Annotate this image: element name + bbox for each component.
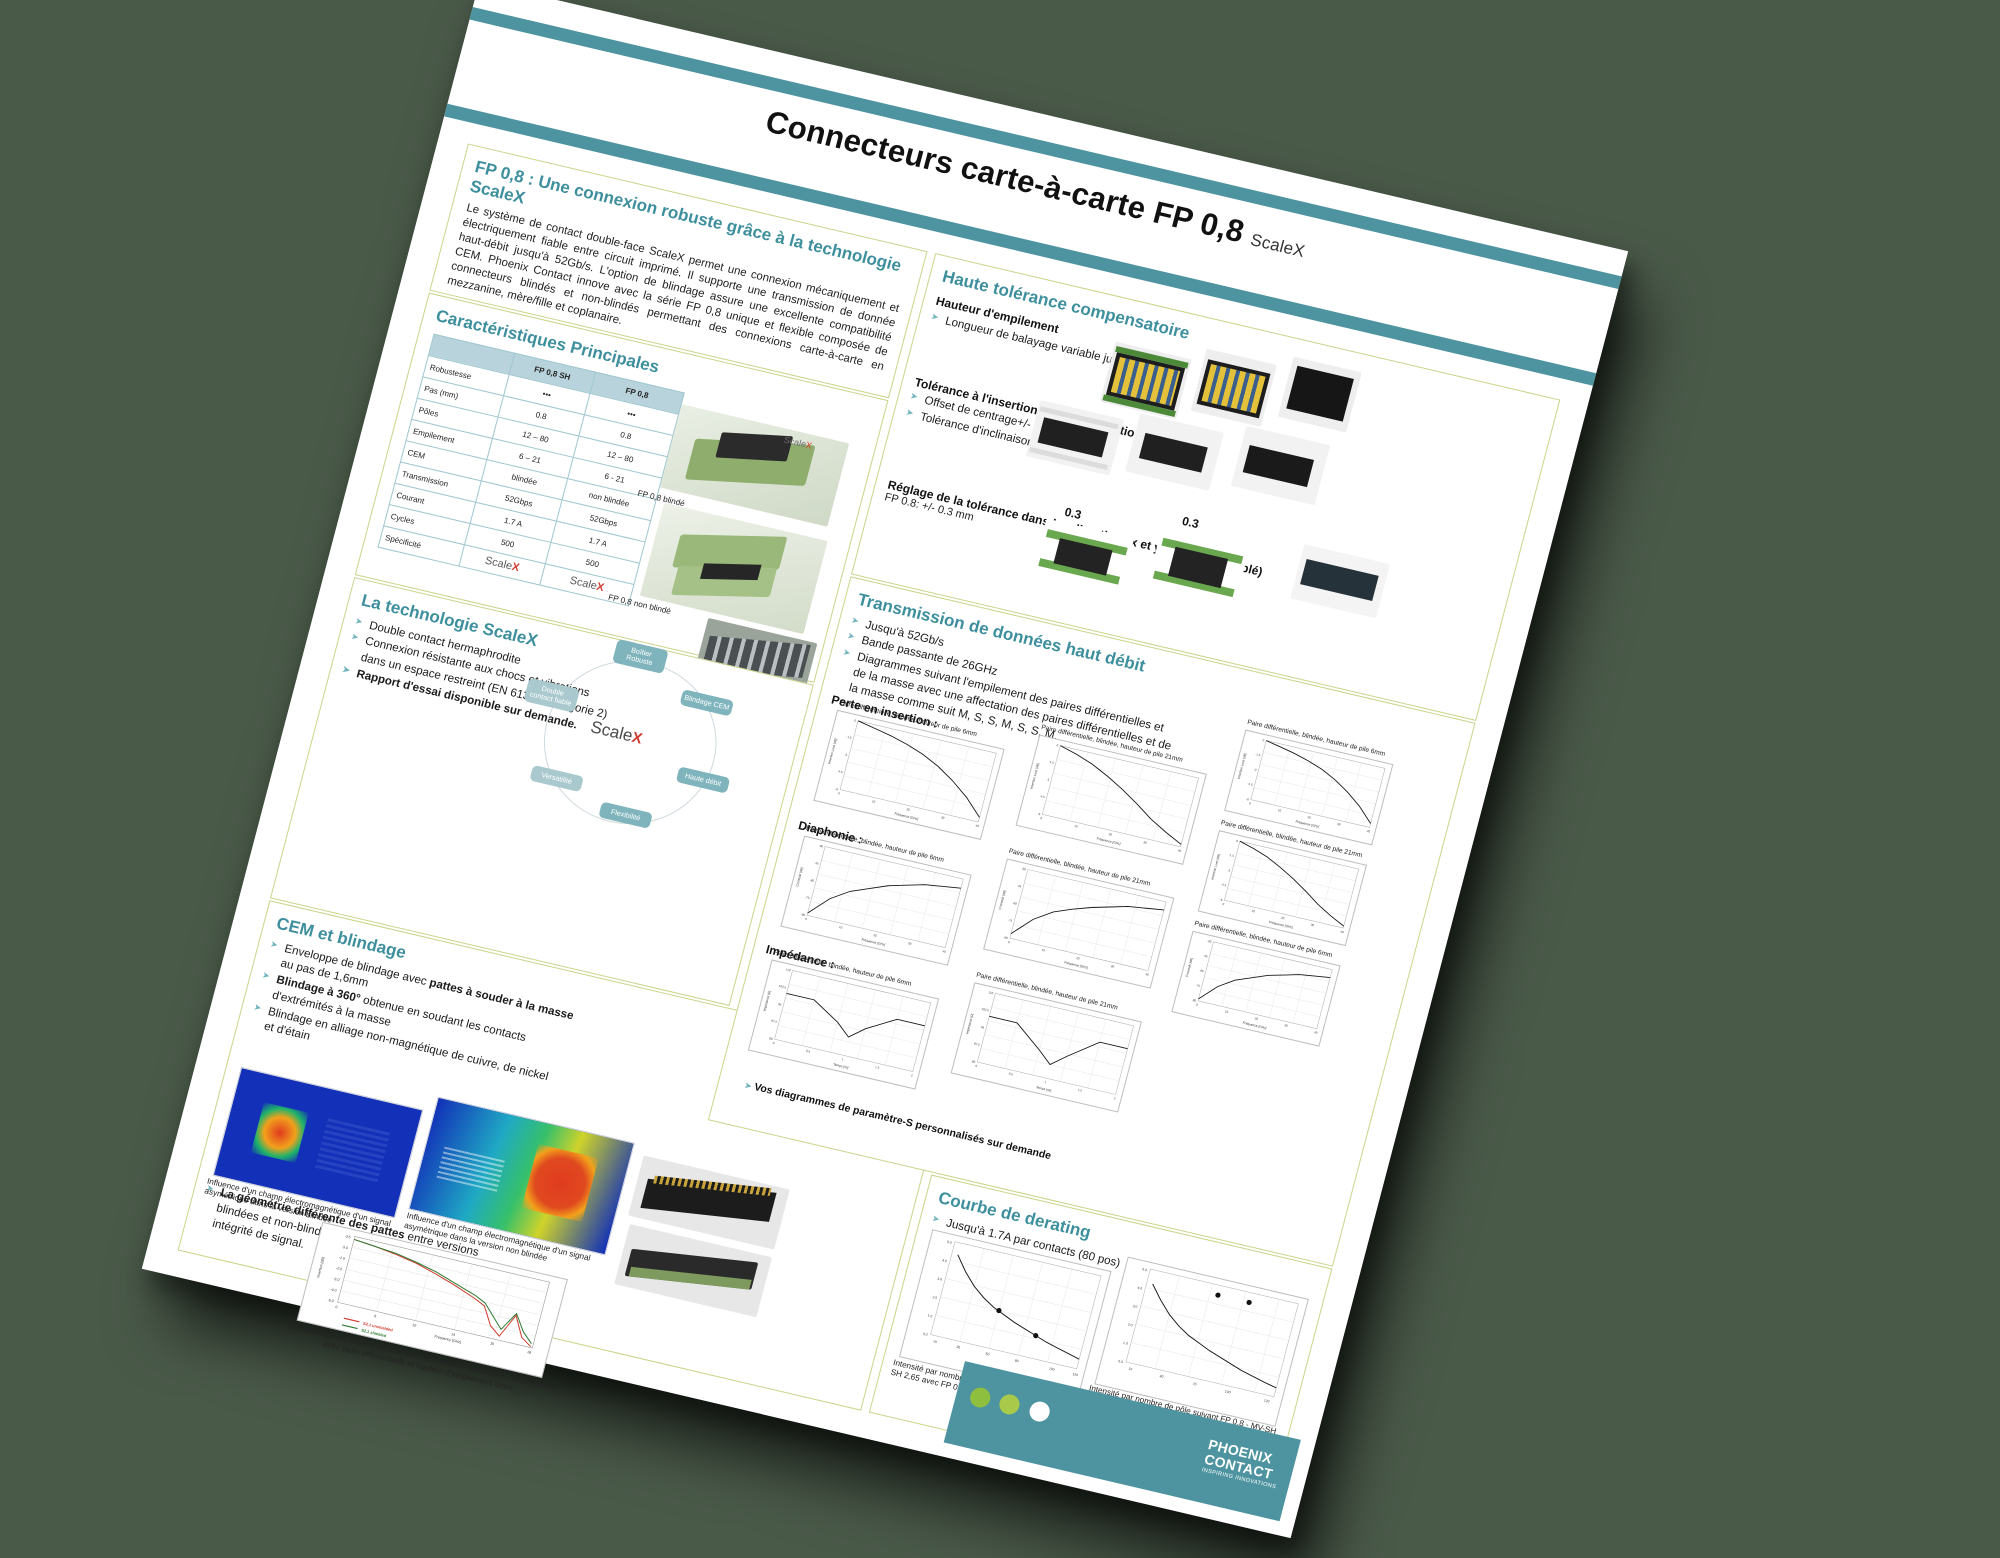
svg-text:40: 40 (1145, 972, 1150, 977)
svg-text:30: 30 (908, 941, 913, 946)
dot-lime (998, 1393, 1023, 1417)
svg-text:20: 20 (873, 933, 878, 938)
svg-text:Fréquence [GHz]: Fréquence [GHz] (1096, 837, 1121, 846)
svg-text:-75: -75 (1008, 918, 1014, 923)
svg-text:-4.5: -4.5 (1221, 882, 1227, 887)
svg-text:2: 2 (910, 1073, 913, 1077)
svg-text:Crosstalk [dB]: Crosstalk [dB] (998, 890, 1007, 910)
svg-text:10: 10 (1041, 948, 1046, 953)
svg-text:30: 30 (956, 1345, 961, 1350)
svg-text:-2.0: -2.0 (336, 1266, 343, 1271)
svg-text:0: 0 (1248, 801, 1251, 805)
svg-text:110: 110 (988, 990, 994, 995)
insertion-tolerance-photo-c (1231, 426, 1330, 506)
xy-tolerance-photo-c (1290, 544, 1390, 618)
footer-dots (967, 1386, 1058, 1430)
svg-text:0: 0 (1236, 839, 1239, 843)
svg-text:20: 20 (1108, 832, 1113, 837)
svg-text:10: 10 (871, 799, 876, 804)
svg-text:Frequency [GHz]: Frequency [GHz] (434, 1334, 461, 1344)
svg-text:2.0: 2.0 (932, 1295, 938, 1300)
svg-text:30: 30 (1143, 840, 1148, 845)
svg-text:Insertion Loss [dB]: Insertion Loss [dB] (827, 738, 838, 765)
svg-text:5.0: 5.0 (946, 1240, 952, 1245)
svg-text:0: 0 (1007, 940, 1010, 944)
svg-text:-4.5: -4.5 (1039, 794, 1045, 799)
svg-text:100: 100 (1048, 1367, 1055, 1372)
svg-text:Crosstalk [dB]: Crosstalk [dB] (795, 867, 804, 887)
poster-sheet-wrapper: Connecteurs carte-à-carte FP 0,8 ScaleX … (142, 0, 1628, 1538)
svg-text:0.0: 0.0 (922, 1332, 928, 1337)
svg-text:30: 30 (1337, 822, 1342, 827)
svg-text:20: 20 (1076, 956, 1081, 961)
svg-text:87.5: 87.5 (974, 1042, 981, 1047)
svg-text:Insertion [dB]: Insertion [dB] (316, 1257, 325, 1278)
svg-text:0: 0 (772, 1041, 775, 1045)
svg-text:0.0: 0.0 (342, 1245, 348, 1250)
svg-text:80: 80 (1014, 1359, 1019, 1364)
svg-text:18: 18 (527, 1350, 532, 1355)
svg-text:Impédance [Ω]: Impédance [Ω] (965, 1013, 974, 1034)
dot-green (968, 1386, 993, 1410)
svg-text:0: 0 (805, 917, 808, 921)
svg-text:-30: -30 (1021, 867, 1027, 872)
svg-text:-60: -60 (1012, 901, 1018, 906)
svg-text:Fréquence [GHz]: Fréquence [GHz] (1242, 1021, 1267, 1030)
svg-text:2.0: 2.0 (1127, 1322, 1133, 1327)
svg-text:10: 10 (933, 1339, 938, 1344)
svg-text:50: 50 (985, 1352, 990, 1357)
svg-text:-45: -45 (814, 861, 820, 866)
svg-text:1.5: 1.5 (1077, 1088, 1082, 1093)
svg-text:40: 40 (1177, 848, 1182, 853)
svg-text:10: 10 (1225, 1009, 1230, 1014)
svg-text:-45: -45 (1203, 954, 1209, 959)
svg-text:20: 20 (1281, 916, 1286, 921)
svg-text:30: 30 (1310, 923, 1315, 928)
svg-text:14: 14 (451, 1332, 456, 1337)
transmission-chart-4: 110102.59587.58000.511.52 Temps [ns] Imp… (748, 959, 939, 1089)
svg-text:-1.0: -1.0 (338, 1255, 345, 1260)
svg-text:Fréquence [GHz]: Fréquence [GHz] (1295, 819, 1320, 828)
svg-text:4.0: 4.0 (1137, 1286, 1143, 1291)
svg-text:-45: -45 (1017, 884, 1023, 889)
svg-text:0: 0 (335, 1305, 338, 1309)
svg-text:-3: -3 (1046, 777, 1050, 782)
svg-text:10: 10 (838, 925, 843, 930)
svg-text:30: 30 (1284, 1023, 1289, 1028)
svg-text:0: 0 (1040, 816, 1043, 820)
svg-text:-5.0: -5.0 (327, 1298, 334, 1303)
svg-text:110: 110 (785, 967, 791, 972)
svg-text:40: 40 (1340, 930, 1345, 935)
phoenix-contact-logo: PHOENIX CONTACT INSPIRING INNOVATIONS (1201, 1437, 1285, 1490)
svg-text:Insertion Loss [dB]: Insertion Loss [dB] (1029, 763, 1040, 790)
svg-text:0.0: 0.0 (1118, 1359, 1124, 1364)
svg-text:120: 120 (1072, 1372, 1079, 1377)
svg-text:-4.0: -4.0 (330, 1287, 337, 1292)
svg-text:0: 0 (975, 1064, 978, 1068)
svg-text:Fréquence [GHz]: Fréquence [GHz] (861, 937, 886, 946)
svg-text:Fréquence [GHz]: Fréquence [GHz] (1064, 960, 1089, 969)
svg-text:-4.5: -4.5 (837, 769, 843, 774)
svg-text:Temps [ns]: Temps [ns] (833, 1062, 849, 1069)
svg-text:0.5: 0.5 (345, 1234, 351, 1239)
insertion-tolerance-photo-a (1026, 400, 1124, 476)
svg-text:10: 10 (1251, 909, 1256, 914)
svg-text:0: 0 (854, 718, 857, 722)
svg-text:0: 0 (838, 791, 841, 795)
svg-text:0.5: 0.5 (1008, 1072, 1013, 1077)
svg-text:40: 40 (942, 949, 947, 954)
svg-text:120: 120 (1263, 1399, 1270, 1404)
svg-text:3.0: 3.0 (937, 1277, 943, 1282)
svg-text:1: 1 (841, 1057, 844, 1061)
svg-text:10: 10 (1074, 824, 1079, 829)
svg-text:16: 16 (490, 1341, 495, 1346)
svg-text:3.0: 3.0 (1132, 1304, 1138, 1309)
svg-text:-1.5: -1.5 (846, 735, 852, 740)
svg-text:2: 2 (1113, 1096, 1116, 1100)
svg-text:Crosstalk [dB]: Crosstalk [dB] (1185, 957, 1194, 977)
svg-text:10: 10 (412, 1323, 417, 1328)
svg-text:1.5: 1.5 (875, 1065, 880, 1070)
svg-text:-1.5: -1.5 (1255, 752, 1261, 757)
svg-text:-1.5: -1.5 (1048, 760, 1054, 765)
svg-text:87.5: 87.5 (771, 1019, 778, 1024)
svg-text:40: 40 (1366, 829, 1371, 834)
svg-text:95: 95 (981, 1025, 986, 1030)
svg-text:70: 70 (1192, 1382, 1197, 1387)
svg-text:0: 0 (1196, 1003, 1199, 1007)
svg-text:102.5: 102.5 (981, 1007, 990, 1013)
svg-text:0: 0 (1056, 743, 1059, 747)
svg-text:40: 40 (1159, 1374, 1164, 1379)
svg-text:20: 20 (906, 807, 911, 812)
svg-text:-3: -3 (1227, 868, 1231, 873)
svg-text:30: 30 (941, 815, 946, 820)
svg-text:Temps [ns]: Temps [ns] (1036, 1085, 1052, 1092)
svg-text:Insertion Loss [dB]: Insertion Loss [dB] (1237, 753, 1248, 780)
svg-text:40: 40 (975, 823, 980, 828)
svg-text:20: 20 (1254, 1016, 1259, 1021)
svg-text:-60: -60 (809, 878, 815, 883)
svg-text:0: 0 (1222, 902, 1225, 906)
svg-text:4.0: 4.0 (942, 1258, 948, 1263)
poster-sheet: Connecteurs carte-à-carte FP 0,8 ScaleX … (142, 0, 1628, 1538)
screenshot-canvas: Connecteurs carte-à-carte FP 0,8 ScaleX … (0, 0, 2000, 1558)
dot-teal (1027, 1400, 1052, 1424)
svg-text:10: 10 (1128, 1367, 1133, 1372)
svg-text:Impédance [Ω]: Impédance [Ω] (762, 990, 771, 1011)
svg-text:-4.5: -4.5 (1247, 782, 1253, 787)
svg-text:0.5: 0.5 (806, 1049, 811, 1054)
svg-text:-1.5: -1.5 (1228, 853, 1234, 858)
svg-text:40: 40 (1314, 1030, 1319, 1035)
svg-text:95: 95 (778, 1002, 783, 1007)
dim-label-right: 0.3 (1181, 514, 1201, 531)
svg-text:-75: -75 (1195, 983, 1201, 988)
svg-text:10: 10 (1277, 808, 1282, 813)
svg-text:-60: -60 (1199, 968, 1205, 973)
svg-text:Fréquence [GHz]: Fréquence [GHz] (894, 812, 919, 821)
svg-text:-3: -3 (844, 753, 848, 758)
transmission-chart-3: -30-45-60-75-90010203040 Fréquence [GHz]… (983, 858, 1174, 988)
svg-text:-75: -75 (805, 895, 811, 900)
svg-text:-3: -3 (1253, 767, 1257, 772)
svg-text:6: 6 (374, 1314, 377, 1318)
svg-text:1.0: 1.0 (927, 1313, 933, 1318)
svg-text:20: 20 (1307, 815, 1312, 820)
svg-text:Insertion Loss [dB]: Insertion Loss [dB] (1210, 853, 1221, 880)
svg-text:1.0: 1.0 (1123, 1341, 1129, 1346)
svg-text:1: 1 (1044, 1080, 1047, 1084)
svg-text:102.5: 102.5 (778, 984, 787, 990)
svg-text:-30: -30 (1207, 939, 1213, 944)
svg-text:30: 30 (1110, 964, 1115, 969)
svg-text:-30: -30 (818, 844, 824, 849)
scalex-logo-title: ScaleX (1248, 230, 1306, 261)
svg-text:5.0: 5.0 (1142, 1267, 1148, 1272)
xy-tolerance-photo-b (1146, 529, 1249, 610)
svg-text:100: 100 (1224, 1389, 1231, 1394)
transmission-chart-5: 110102.59587.58000.511.52 Temps [ns] Imp… (951, 982, 1142, 1112)
svg-text:-3.0: -3.0 (333, 1277, 340, 1282)
svg-text:Fréquence [GHz]: Fréquence [GHz] (1269, 920, 1294, 929)
svg-text:0: 0 (1262, 738, 1265, 742)
